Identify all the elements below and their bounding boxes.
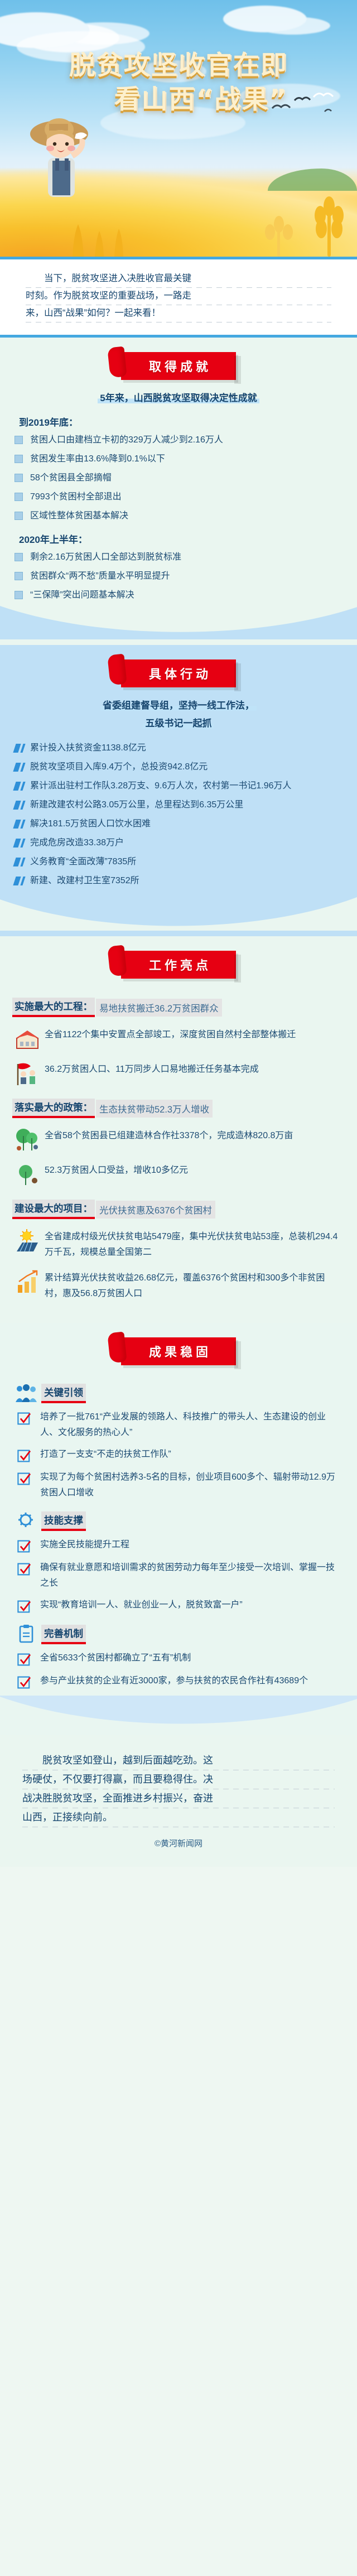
actions-list: 累计投入扶贫资金1138.8亿元 脱贫攻坚项目入库9.4万个，总投资942.8亿… [0, 740, 357, 889]
intro-line-2: 时刻。作为脱贫攻坚的重要战场，一路走 [26, 288, 331, 305]
list-item: 58个贫困县全部摘帽 [29, 470, 338, 486]
list-item: 贫困群众“两不愁”质量水平明显提升 [29, 568, 338, 584]
gear-hand-icon [15, 1511, 37, 1531]
achievements-lead: 5年来，山西脱贫攻坚取得决定性成就 [15, 390, 343, 407]
result-block-2-tag: 完善机制 [41, 1625, 86, 1644]
result-item: 全省5633个贫困村都确立了“五有”机制 [0, 1645, 357, 1668]
highlight-block-1-desc: 生态扶贫带动52.3万人增收 [96, 1100, 213, 1118]
actions-lead-2: 五级书记一起抓 [15, 715, 343, 732]
banner-highlights-wrap: 工作亮点 [0, 936, 357, 988]
result-item-text: 打造了一支支“不走的扶贫工作队” [40, 1447, 171, 1462]
result-item: 打造了一支支“不走的扶贫工作队” [0, 1442, 357, 1465]
check-square-icon [16, 1537, 35, 1554]
achievements-group-1-list: 剩余2.16万贫困人口全部达到脱贫标准 贫困群众“两不愁”质量水平明显提升 “三… [0, 549, 357, 603]
result-item-text: 实现“教育培训一人、就业创业一人，脱贫致富一户” [40, 1597, 243, 1613]
highlight-item-text: 全省建成村级光伏扶贫电站5479座，集中光伏扶贫电站53座，总装机294.4万千… [45, 1228, 340, 1260]
solar-panel-icon [13, 1228, 41, 1254]
section-achievements: 取得成就 5年来，山西脱贫攻坚取得决定性成就 到2019年底： 贫困人口由建档立… [0, 338, 357, 645]
banner-actions-wrap: 具体行动 [0, 645, 357, 696]
slash-bullet-icon [15, 858, 24, 866]
highlight-item: 全省1122个集中安置点全部竣工，深度贫困自然村全部整体搬迁 [0, 1019, 357, 1054]
slash-bullet-icon [15, 763, 24, 772]
list-item: 脱贫攻坚项目入库9.4万个，总投资942.8亿元 [29, 759, 338, 775]
check-square-icon [16, 1650, 35, 1667]
square-bullet-icon [15, 474, 23, 482]
infographic-page: 脱贫攻坚收官在即 看山西“战果” [0, 0, 357, 1867]
highlight-block-2-tag: 建设最大的项目： [12, 1200, 95, 1219]
square-bullet-icon [15, 493, 23, 501]
check-square-icon [16, 1560, 35, 1577]
result-item: 参与产业扶贫的企业有近3000家，参与扶贫的农民合作社有43689个 [0, 1668, 357, 1691]
check-square-icon [16, 1409, 35, 1426]
clipboard-icon [15, 1624, 37, 1644]
wave-divider [0, 1696, 357, 1729]
footer-line-2: 场硬仗，不仅要打得赢，而且要稳得住。决 [22, 1770, 335, 1789]
hero-banner: 脱贫攻坚收官在即 看山西“战果” [0, 0, 357, 257]
highlight-block-2-desc: 光伏扶贫惠及6376个贫困村 [96, 1201, 215, 1219]
square-bullet-icon [15, 591, 23, 599]
tree-planting-icon [13, 1127, 41, 1153]
growth-chart-icon [13, 1269, 41, 1295]
achievements-group-1-subhead: 2020年上半年： [19, 532, 357, 546]
tree-planting-icon [13, 1162, 41, 1187]
banner-results: 成果稳固 [121, 1337, 236, 1365]
result-item-text: 确保有就业意愿和培训需求的贫困劳动力每年至少接受一次培训、掌握一技之长 [40, 1560, 339, 1591]
intro-line-1: 当下，脱贫攻坚进入决胜收官最关键 [26, 271, 331, 287]
slash-bullet-icon [15, 744, 24, 753]
result-item-text: 培养了一批761“产业发展的领路人、科技推广的带头人、生态建设的创业人、文化服务… [40, 1409, 339, 1441]
list-item: 区域性整体贫困基本解决 [29, 508, 338, 524]
slash-bullet-icon [15, 877, 24, 885]
wheat-icon [61, 209, 128, 257]
wave-divider [0, 892, 357, 931]
square-bullet-icon [15, 455, 23, 463]
achievements-group-0-subhead: 到2019年底： [19, 415, 357, 428]
square-bullet-icon [15, 572, 23, 580]
farmer-illustration [25, 105, 108, 208]
list-item: 新建改建农村公路3.05万公里，总里程达到6.35万公里 [29, 797, 338, 813]
list-item: “三保障”突出问题基本解决 [29, 587, 338, 603]
actions-lead-1: 省委组建督导组，坚持一线工作法， [15, 697, 343, 714]
highlight-item: 累计结算光伏扶贫收益26.68亿元，覆盖6376个贫困村和300多个非贫困村，惠… [0, 1263, 357, 1304]
square-bullet-icon [15, 512, 23, 520]
highlight-item-text: 36.2万贫困人口、11万同步人口易地搬迁任务基本完成 [45, 1061, 259, 1077]
highlight-item: 52.3万贫困人口受益，增收10多亿元 [0, 1155, 357, 1190]
intro-box: 当下，脱贫攻坚进入决胜收官最关键 时刻。作为脱贫攻坚的重要战场，一路走 来，山西… [0, 257, 357, 338]
result-item: 培养了一批761“产业发展的领路人、科技推广的带头人、生态建设的创业人、文化服务… [0, 1404, 357, 1442]
cloud-icon [223, 6, 307, 32]
list-item: 累计投入扶贫资金1138.8亿元 [29, 740, 338, 756]
hero-title-line-1: 脱贫攻坚收官在即 [0, 51, 357, 81]
banner-results-wrap: 成果稳固 [0, 1323, 357, 1374]
highlight-item: 全省58个贫困县已组建造林合作社3378个，完成造林820.8万亩 [0, 1120, 357, 1155]
highlight-item-text: 全省58个贫困县已组建造林合作社3378个，完成造林820.8万亩 [45, 1127, 293, 1144]
highlight-block-0-tag: 实施最大的工程： [12, 998, 95, 1017]
result-item-text: 参与产业扶贫的企业有近3000家，参与扶贫的农民合作社有43689个 [40, 1673, 308, 1689]
section-results: 成果稳固 关键引领 培养了一批761“产业发展的领路人、科技推广的带头人、生态建… [0, 1323, 357, 1735]
highlight-item-text: 全省1122个集中安置点全部竣工，深度贫困自然村全部整体搬迁 [45, 1026, 296, 1043]
list-item: 义务教育“全面改薄”7835所 [29, 854, 338, 870]
footer-line-3: 战决胜脱贫攻坚，全面推进乡村振兴，奋进 [22, 1789, 335, 1808]
list-item: 7993个贫困村全部退出 [29, 489, 338, 505]
check-square-icon [16, 1597, 35, 1614]
result-item: 实现了为每个贫困村选养3-5名的目标，创业项目600多个、辐射带动12.9万贫困… [0, 1465, 357, 1502]
list-item: 贫困发生率由13.6%降到0.1%以下 [29, 451, 338, 467]
list-item: 新建、改建村卫生室7352所 [29, 873, 338, 889]
highlight-block-2-head: 建设最大的项目： 光伏扶贫惠及6376个贫困村 [0, 1190, 357, 1221]
footer-closing: 脱贫攻坚如登山，越到后面越吃劲。这 场硬仗，不仅要打得赢，而且要稳得住。决 战决… [0, 1735, 357, 1867]
banner-highlights: 工作亮点 [121, 951, 236, 979]
highlight-item-text: 52.3万贫困人口受益，增收10多亿元 [45, 1162, 188, 1178]
slash-bullet-icon [15, 782, 24, 791]
achievements-group-0-list: 贫困人口由建档立卡初的329万人减少到2.16万人 贫困发生率由13.6%降到0… [0, 432, 357, 524]
result-block-2-head: 完善机制 [0, 1615, 357, 1645]
banner-achievements-wrap: 取得成就 [0, 338, 357, 389]
people-group-icon [15, 1383, 37, 1403]
highlight-item: 全省建成村级光伏扶贫电站5479座，集中光伏扶贫电站53座，总装机294.4万千… [0, 1221, 357, 1263]
highlight-block-1-tag: 落实最大的政策： [12, 1099, 95, 1118]
banner-achievements: 取得成就 [121, 352, 236, 380]
copyright-credit: ©黄河新闻网 [22, 1827, 335, 1861]
slash-bullet-icon [15, 801, 24, 810]
highlight-block-0-desc: 易地扶贫搬迁36.2万贫困群众 [96, 999, 222, 1017]
square-bullet-icon [15, 436, 23, 444]
square-bullet-icon [15, 553, 23, 561]
divider [26, 322, 331, 322]
list-item: 贫困人口由建档立卡初的329万人减少到2.16万人 [29, 432, 338, 448]
wave-divider [0, 606, 357, 639]
footer-line-1: 脱贫攻坚如登山，越到后面越吃劲。这 [22, 1751, 335, 1770]
highlight-item-text: 累计结算光伏扶贫收益26.68亿元，覆盖6376个贫困村和300多个非贫困村，惠… [45, 1269, 340, 1302]
list-item: 解决181.5万贫困人口饮水困难 [29, 816, 338, 832]
result-block-1-head: 技能支撑 [0, 1502, 357, 1532]
highlight-block-1-head: 落实最大的政策： 生态扶贫带动52.3万人增收 [0, 1089, 357, 1120]
wheat-icon [245, 190, 357, 257]
house-icon [13, 1026, 41, 1052]
section-actions: 具体行动 省委组建督导组，坚持一线工作法， 五级书记一起抓 累计投入扶贫资金11… [0, 645, 357, 936]
result-item: 实现“教育培训一人、就业创业一人，脱贫致富一户” [0, 1592, 357, 1615]
flag-people-icon [13, 1061, 41, 1086]
slash-bullet-icon [15, 820, 24, 829]
section-highlights: 工作亮点 实施最大的工程： 易地扶贫搬迁36.2万贫困群众 全省1122个集中安… [0, 936, 357, 1323]
check-square-icon [16, 1447, 35, 1463]
result-item-text: 全省5633个贫困村都确立了“五有”机制 [40, 1650, 191, 1666]
result-item-text: 实现了为每个贫困村选养3-5名的目标，创业项目600多个、辐射带动12.9万贫困… [40, 1470, 339, 1501]
slash-bullet-icon [15, 839, 24, 848]
result-item-text: 实施全民技能提升工程 [40, 1537, 129, 1553]
result-item: 确保有就业意愿和培训需求的贫困劳动力每年至少接受一次培训、掌握一技之长 [0, 1555, 357, 1592]
list-item: 剩余2.16万贫困人口全部达到脱贫标准 [29, 549, 338, 565]
footer-line-4: 山西，正接续向前。 [22, 1808, 335, 1827]
banner-actions: 具体行动 [121, 659, 236, 687]
list-item: 累计派出驻村工作队3.28万支、9.6万人次，农村第一书记1.96万人 [29, 778, 338, 794]
result-block-1-tag: 技能支撑 [41, 1511, 86, 1531]
result-item: 实施全民技能提升工程 [0, 1532, 357, 1555]
check-square-icon [16, 1673, 35, 1690]
highlight-item: 36.2万贫困人口、11万同步人口易地搬迁任务基本完成 [0, 1054, 357, 1089]
highlight-block-0-head: 实施最大的工程： 易地扶贫搬迁36.2万贫困群众 [0, 988, 357, 1019]
result-block-0-tag: 关键引领 [41, 1384, 86, 1403]
list-item: 完成危房改造33.38万户 [29, 835, 338, 851]
check-square-icon [16, 1470, 35, 1486]
intro-line-3: 来，山西“战果”如何？一起来看！ [26, 305, 331, 322]
result-block-0-head: 关键引领 [0, 1374, 357, 1404]
